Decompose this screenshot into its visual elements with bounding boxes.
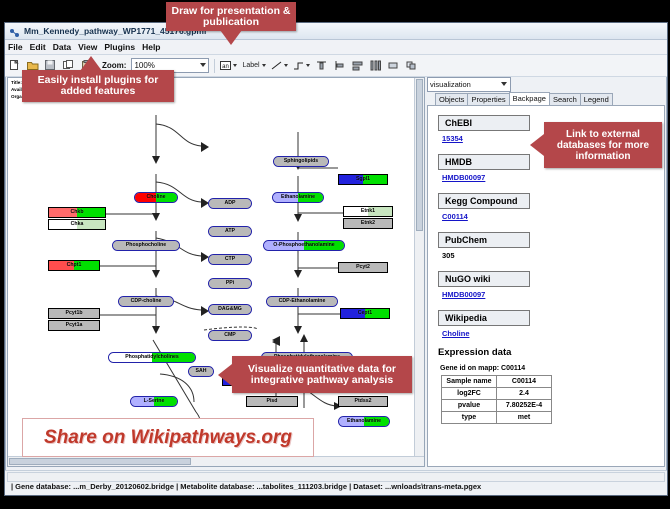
node-label: DAG&MG [218, 307, 242, 312]
metabolite-node-cmp[interactable]: CMP [208, 330, 252, 341]
db-name-kegg-compound: Kegg Compound [438, 193, 530, 209]
node-label: PPi [226, 281, 234, 286]
tab-objects[interactable]: Objects [435, 93, 468, 105]
chevron-down-icon [200, 63, 206, 67]
chevron-down-icon [233, 64, 237, 67]
gene-node-chka[interactable]: Chka [48, 219, 106, 230]
expression-data-header: Expression data [438, 347, 656, 358]
label-tool-text: Label [242, 62, 259, 69]
node-label: Ptdss2 [354, 399, 371, 404]
chevron-down-icon [284, 64, 288, 67]
db-name-hmdb: HMDB [438, 154, 530, 170]
gene-node-ptdss2[interactable]: Ptdss2 [338, 396, 388, 407]
callout-draw-arrow [220, 30, 242, 45]
align-top-icon[interactable] [315, 59, 328, 72]
menu-item-help[interactable]: Help [142, 42, 160, 52]
node-label: Chpt1 [67, 263, 82, 268]
metabolite-node-dag-mg[interactable]: DAG&MG [208, 304, 252, 315]
node-label: Choline [146, 195, 165, 200]
expr-val-log2fc: 2.4 [497, 388, 552, 400]
menu-bar: File Edit Data View Plugins Help [5, 40, 667, 55]
gene-node-etnk1[interactable]: Etnk1 [343, 206, 393, 217]
metabolite-node-cdp-ethanolamine[interactable]: CDP-Ethanolamine [266, 296, 338, 307]
metabolite-node-ctp[interactable]: CTP [208, 254, 252, 265]
chevron-down-icon [501, 82, 507, 86]
callout-visualize: Visualize quantitative data for integrat… [232, 356, 412, 393]
db-link-hmdb[interactable]: HMDB00097 [442, 173, 656, 182]
chevron-down-icon [306, 64, 310, 67]
table-row: log2FC 2.4 [442, 388, 552, 400]
visualization-row: visualization [427, 77, 665, 92]
node-label: Ethanolamine [281, 195, 315, 200]
node-label: CDP-choline [131, 299, 162, 304]
zoom-value: 100% [134, 61, 154, 70]
node-label: Cept1 [358, 311, 372, 316]
scroll-thumb[interactable] [416, 79, 423, 231]
metabolite-node-adp[interactable]: ADP [208, 198, 252, 209]
metabolite-node-choline[interactable]: Choline [134, 192, 178, 203]
order-icon[interactable] [405, 59, 418, 72]
zoom-label: Zoom: [102, 61, 126, 70]
node-label: Pisd [267, 399, 278, 404]
align-center-icon[interactable] [351, 59, 364, 72]
menu-item-view[interactable]: View [78, 42, 97, 52]
menu-item-data[interactable]: Data [53, 42, 71, 52]
node-label: Ethanolamine [347, 419, 381, 424]
gene-node-chpt1[interactable]: Chpt1 [48, 260, 100, 271]
callout-plugins: Easily install plugins for added feature… [22, 70, 174, 102]
expr-key-pvalue: pvalue [442, 400, 497, 412]
gene-node-sgpl1[interactable]: Sgpl1 [338, 174, 388, 185]
expr-key-log2fc: log2FC [442, 388, 497, 400]
node-label: Pcyt1b [65, 311, 82, 316]
node-label: ADP [225, 201, 236, 206]
metabolite-node-ethanolamine[interactable]: Ethanolamine [272, 192, 324, 203]
db-name-wikipedia: Wikipedia [438, 310, 530, 326]
node-label: Pcyt2 [356, 265, 370, 270]
metabolite-node-ethanolamine[interactable]: Ethanolamine [338, 416, 390, 427]
callout-links: Link to external databases for more info… [544, 122, 662, 168]
db-value-pubchem: 305 [442, 251, 656, 260]
new-file-icon[interactable] [8, 59, 21, 72]
gene-node-cept1[interactable]: Cept1 [340, 308, 390, 319]
gene-node-chkb[interactable]: Chkb [48, 207, 106, 218]
expr-val-sample-name: C00114 [497, 376, 552, 388]
expression-data-table: Sample name C00114 log2FC 2.4 pvalue 7.8… [441, 375, 552, 424]
chevron-down-icon [262, 64, 266, 67]
svg-text:an: an [223, 64, 230, 70]
distribute-icon[interactable] [369, 59, 382, 72]
line-tool[interactable] [271, 61, 288, 70]
status-scroll-strip[interactable] [7, 472, 665, 482]
gene-node-pcyt1a[interactable]: Pcyt1a [48, 320, 100, 331]
pathway-canvas[interactable]: Title: Availa Organ [7, 77, 425, 467]
table-row: type met [442, 412, 552, 424]
node-label: Chka [71, 222, 84, 227]
expr-key-sample-name: Sample name [442, 376, 497, 388]
db-name-nugo-wiki: NuGO wiki [438, 271, 530, 287]
db-name-chebi: ChEBI [438, 115, 530, 131]
node-label: Etnk2 [361, 221, 375, 226]
canvas-horizontal-scrollbar[interactable] [8, 456, 424, 466]
gene-node-pcyt1b[interactable]: Pcyt1b [48, 308, 100, 319]
status-text: | Gene database: ...m_Derby_20120602.bri… [11, 482, 481, 491]
node-label: SAH [196, 369, 207, 374]
node-label: ATP [225, 229, 235, 234]
node-label: Etnk1 [361, 209, 375, 214]
db-name-pubchem: PubChem [438, 232, 530, 248]
tab-backpage[interactable]: Backpage [509, 92, 550, 105]
callout-visualize-arrow [218, 364, 232, 386]
expr-val-type: met [497, 412, 552, 424]
node-label: Phosphatidylcholines [125, 355, 179, 360]
application-icon [9, 26, 20, 37]
callout-plugins-arrow [80, 56, 102, 71]
metabolite-node-phosphatidylcholines[interactable]: Phosphatidylcholines [108, 352, 196, 363]
node-label: CDP-Ethanolamine [279, 299, 326, 304]
screenshot-root: Mm_Kennedy_pathway_WP1771_45176.gpml Fil… [0, 0, 670, 509]
connector-tool[interactable] [293, 61, 310, 70]
table-row: Sample name C00114 [442, 376, 552, 388]
db-link-wikipedia[interactable]: Choline [442, 329, 656, 338]
canvas-vertical-scrollbar[interactable] [414, 78, 424, 466]
pathway-drawing: Title: Availa Organ [8, 78, 424, 466]
metabolite-node-sah[interactable]: SAH [188, 366, 214, 377]
node-label: CTP [225, 257, 235, 262]
gene-node-etnk2[interactable]: Etnk2 [343, 218, 393, 229]
callout-links-arrow [530, 134, 544, 156]
expr-key-type: type [442, 412, 497, 424]
node-label: O-Phosphoethanolamine [273, 243, 334, 248]
db-link-kegg-compound[interactable]: C00114 [442, 212, 656, 221]
scroll-thumb[interactable] [9, 458, 191, 465]
node-label: CMP [224, 333, 236, 338]
gene-node-pisd[interactable]: Pisd [246, 396, 298, 407]
node-label: Pcyt1a [66, 323, 83, 328]
tab-search[interactable]: Search [549, 93, 581, 105]
metabolite-node-cdp-choline[interactable]: CDP-choline [118, 296, 174, 307]
menu-item-plugins[interactable]: Plugins [104, 42, 135, 52]
visualization-value: visualization [430, 80, 471, 89]
title-bar: Mm_Kennedy_pathway_WP1771_45176.gpml [5, 23, 667, 40]
metabolite-node-atp[interactable]: ATP [208, 226, 252, 237]
group-icon[interactable] [387, 59, 400, 72]
status-bar: | Gene database: ...m_Derby_20120602.bri… [5, 470, 667, 495]
table-row: pvalue 7.80252E-4 [442, 400, 552, 412]
side-panel-tabs: Objects Properties Backpage Search Legen… [427, 92, 665, 105]
gene-node-pcyt2[interactable]: Pcyt2 [338, 262, 388, 273]
align-left-icon[interactable] [333, 59, 346, 72]
datanode-tool[interactable]: an [220, 61, 237, 70]
metabolite-node-l-serine[interactable]: L-Serine [130, 396, 178, 407]
label-tool[interactable]: Label [242, 62, 265, 69]
callout-share: Share on Wikipathways.org [22, 418, 314, 457]
db-link-nugo-wiki[interactable]: HMDB00097 [442, 290, 656, 299]
toolbar-separator [214, 59, 215, 73]
node-label: Sgpl1 [356, 177, 370, 182]
tab-legend[interactable]: Legend [580, 93, 613, 105]
menu-item-file[interactable]: File [8, 42, 23, 52]
gene-id-line: Gene id on mapp: C00114 [440, 365, 656, 372]
metabolite-node-o-phosphoethanolamine[interactable]: O-Phosphoethanolamine [263, 240, 345, 251]
metabolite-node-ppi[interactable]: PPi [208, 278, 252, 289]
menu-item-edit[interactable]: Edit [30, 42, 46, 52]
visualization-select[interactable]: visualization [427, 77, 511, 92]
node-label: Phosphocholine [126, 243, 166, 248]
expr-val-pvalue: 7.80252E-4 [497, 400, 552, 412]
metabolite-node-sphingolipids[interactable]: Sphingolipids [273, 156, 329, 167]
callout-draw: Draw for presentation & publication [166, 2, 296, 31]
node-label: Chkb [71, 210, 84, 215]
tab-properties[interactable]: Properties [467, 93, 509, 105]
node-label: L-Serine [144, 399, 165, 404]
node-label: Sphingolipids [284, 159, 318, 164]
metabolite-node-phosphocholine[interactable]: Phosphocholine [112, 240, 180, 251]
